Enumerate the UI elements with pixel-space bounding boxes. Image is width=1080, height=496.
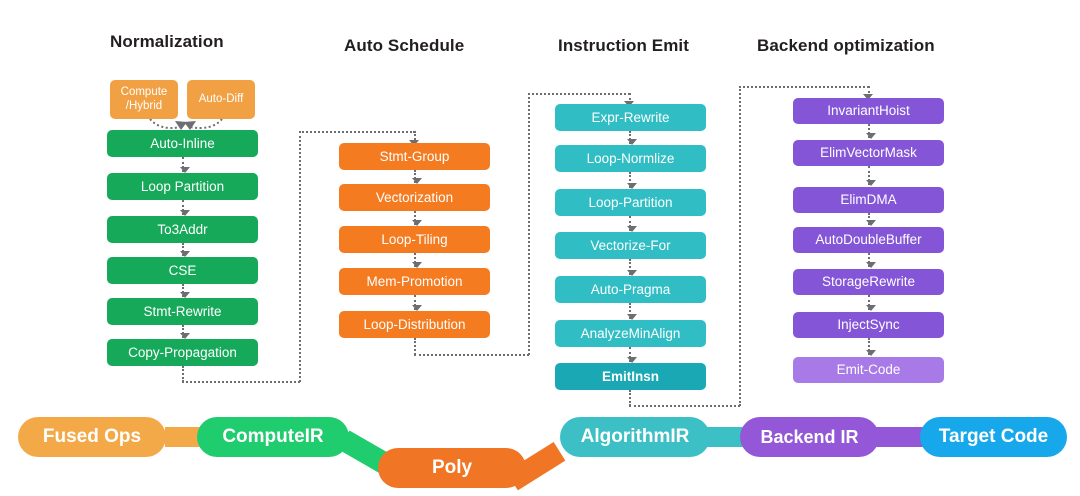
arrow-mem-promotion-to-loop-distribution (414, 295, 416, 310)
pass-box-storage-rewrite[interactable]: StorageRewrite (793, 269, 944, 295)
pass-box-auto-inline[interactable]: Auto-Inline (107, 130, 258, 157)
pipeline-stage-computeir[interactable]: ComputeIR (197, 417, 349, 457)
arrow-elim-vector-mask-to-elim-dma (868, 166, 870, 185)
pipeline-stage-label: ComputeIR (222, 426, 323, 448)
route-norm-exit-down (182, 366, 184, 382)
pipeline-stage-backend-ir[interactable]: Backend IR (740, 417, 879, 457)
pass-box-invariant-hoist[interactable]: InvariantHoist (793, 98, 944, 124)
route-into-invariant-hoist-horizontal (739, 86, 869, 88)
column-title-normalization: Normalization (110, 32, 224, 52)
pipeline-stage-label: Poly (432, 457, 472, 479)
pipeline-stage-poly[interactable]: Poly (378, 448, 526, 488)
pass-box-label: Stmt-Rewrite (143, 304, 221, 319)
arrow-loop-partition-to-to3addr (182, 200, 184, 215)
pass-box-label: ElimVectorMask (820, 145, 917, 160)
entry-box-auto-diff[interactable]: Auto-Diff (187, 80, 255, 119)
arrow-vectorize-for-to-auto-pragma (629, 259, 631, 275)
pass-box-loop-normlize[interactable]: Loop-Normlize (555, 145, 706, 172)
route-emit-to-backend-horizontal (629, 405, 740, 407)
arrow-auto-inline-to-loop-partition (182, 157, 184, 172)
pipeline-stage-fused-ops[interactable]: Fused Ops (18, 417, 166, 457)
pass-box-emitinsn[interactable]: EmitInsn (555, 363, 706, 390)
pass-box-label: CSE (169, 263, 197, 278)
pass-box-label: Loop-Normlize (587, 151, 675, 166)
pipeline-stage-label: Backend IR (760, 427, 858, 448)
pass-box-label: Loop-Distribution (363, 317, 465, 332)
pass-box-label: InjectSync (837, 317, 899, 332)
pass-box-vectorize-for[interactable]: Vectorize-For (555, 232, 706, 259)
pass-box-mem-promotion[interactable]: Mem-Promotion (339, 268, 490, 295)
route-sched-exit-down (414, 338, 416, 355)
route-into-expr-rewrite-horizontal (528, 93, 630, 95)
pass-box-analyze-min-align[interactable]: AnalyzeMinAlign (555, 320, 706, 347)
arrow-auto-double-buffer-to-storage-rewrite (868, 253, 870, 267)
pass-box-label: AnalyzeMinAlign (581, 326, 681, 341)
arrow-cse-to-stmt-rewrite (182, 284, 184, 297)
pipeline-stage-target-code[interactable]: Target Code (920, 417, 1067, 457)
arrow-elim-dma-to-auto-double-buffer (868, 213, 870, 225)
arrow-inject-sync-to-emit-code (868, 338, 870, 355)
pass-box-stmt-rewrite[interactable]: Stmt-Rewrite (107, 298, 258, 325)
route-into-stmt-group-horizontal (299, 131, 415, 133)
pass-box-label: StorageRewrite (822, 274, 915, 289)
pass-box-label: Auto-Pragma (591, 282, 671, 297)
pass-box-label: InvariantHoist (827, 103, 910, 118)
arrow-loop-normlize-to-loop-partition (629, 172, 631, 188)
arrow-stmt-rewrite-to-copy-propagation (182, 325, 184, 338)
arrow-loop-tiling-to-mem-promotion (414, 253, 416, 267)
pass-box-label: ElimDMA (840, 192, 896, 207)
column-title-backend-optimization: Backend optimization (757, 36, 935, 56)
pipeline-stage-label: Fused Ops (43, 426, 141, 448)
arrow-invariant-hoist-to-elim-vector-mask (868, 124, 870, 138)
entry-box-label: Compute/Hybrid (121, 86, 168, 113)
pass-box-label: Vectorize-For (590, 238, 670, 253)
column-title-auto-schedule: Auto Schedule (344, 36, 464, 56)
pass-box-vectorization[interactable]: Vectorization (339, 184, 490, 211)
pass-box-loop-partition[interactable]: Loop Partition (107, 173, 258, 200)
pass-box-copy-propagation[interactable]: Copy-Propagation (107, 339, 258, 366)
pass-box-stmt-group[interactable]: Stmt-Group (339, 143, 490, 170)
pass-box-label: Loop-Partition (588, 195, 672, 210)
pass-box-label: Vectorization (376, 190, 453, 205)
pass-box-label: Auto-Inline (150, 136, 215, 151)
pass-box-to3addr[interactable]: To3Addr (107, 216, 258, 243)
entry-box-compute-hybrid[interactable]: Compute/Hybrid (110, 80, 178, 119)
arrow-expr-rewrite-to-loop-normlize (629, 131, 631, 144)
pass-box-label: Stmt-Group (380, 149, 450, 164)
route-emit-exit-down (629, 390, 631, 406)
arrow-vectorization-to-loop-tiling (414, 211, 416, 225)
column-title-instruction-emit: Instruction Emit (558, 36, 689, 56)
pass-box-label: Emit-Code (837, 362, 901, 377)
arrow-storage-rewrite-to-inject-sync (868, 295, 870, 310)
pass-box-cse[interactable]: CSE (107, 257, 258, 284)
pipeline-stage-algorithmir[interactable]: AlgorithmIR (560, 417, 710, 457)
pass-box-label: Expr-Rewrite (591, 110, 669, 125)
pass-box-elim-dma[interactable]: ElimDMA (793, 187, 944, 213)
route-norm-to-sched-vertical (299, 131, 301, 382)
arrow-loop-partition-to-vectorize-for (629, 216, 631, 231)
pass-box-label: Loop-Tiling (381, 232, 447, 247)
pipeline-stage-label: Target Code (939, 426, 1048, 448)
arrow-auto-pragma-to-analyze-min-align (629, 303, 631, 319)
pass-box-label: EmitInsn (602, 369, 659, 384)
pipeline-stage-label: AlgorithmIR (581, 426, 690, 448)
pass-box-expr-rewrite[interactable]: Expr-Rewrite (555, 104, 706, 131)
pass-box-loop-partition-emit[interactable]: Loop-Partition (555, 189, 706, 216)
pipeline-connector-fusedops-computeir (165, 427, 201, 447)
arrow-analyze-min-align-to-emitinsn (629, 347, 631, 362)
pass-box-loop-distribution[interactable]: Loop-Distribution (339, 311, 490, 338)
pass-box-label: AutoDoubleBuffer (815, 232, 921, 247)
pass-box-label: Mem-Promotion (366, 274, 462, 289)
pipeline-connector-backendir-targetcode (874, 427, 926, 447)
pass-box-label: Copy-Propagation (128, 345, 237, 360)
route-norm-to-sched-horizontal (182, 381, 300, 383)
entry-box-label: Auto-Diff (199, 93, 244, 106)
arrow-stmt-group-to-vectorization (414, 170, 416, 183)
route-emit-to-backend-vertical (739, 86, 741, 406)
pass-box-emit-code[interactable]: Emit-Code (793, 357, 944, 383)
pass-box-inject-sync[interactable]: InjectSync (793, 312, 944, 338)
route-sched-to-emit-vertical (528, 93, 530, 355)
route-sched-to-emit-horizontal (414, 354, 529, 356)
arrow-to3addr-to-cse (182, 243, 184, 256)
pass-box-label: To3Addr (157, 222, 207, 237)
diagram-canvas: Normalization Auto Schedule Instruction … (0, 0, 1080, 496)
pass-box-loop-tiling[interactable]: Loop-Tiling (339, 226, 490, 253)
pass-box-elim-vector-mask[interactable]: ElimVectorMask (793, 140, 944, 166)
pass-box-label: Loop Partition (141, 179, 224, 194)
pass-box-auto-pragma[interactable]: Auto-Pragma (555, 276, 706, 303)
pass-box-auto-double-buffer[interactable]: AutoDoubleBuffer (793, 227, 944, 253)
